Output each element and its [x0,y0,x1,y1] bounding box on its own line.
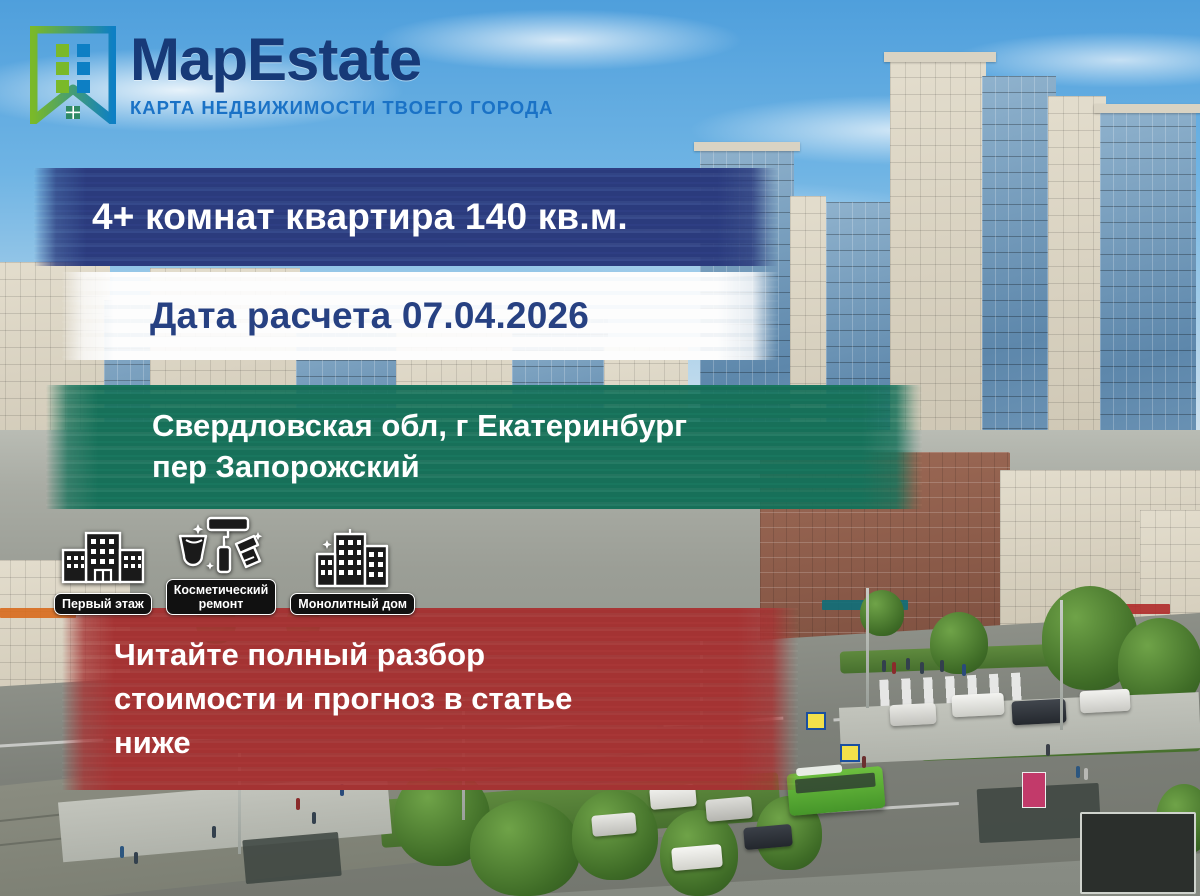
banner-canvas: MapEstate КАРТА НЕДВИЖИМОСТИ ТВОЕГО ГОРО… [0,0,1200,896]
brand-logo[interactable]: MapEstate КАРТА НЕДВИЖИМОСТИ ТВОЕГО ГОРО… [30,26,554,124]
brand-name: MapEstate [130,30,554,90]
cta-line-2: стоимости и прогноз в статье [114,677,572,721]
address-text: Свердловская обл, г Екатеринбург пер Зап… [46,406,687,488]
rooms-banner: 4+ комнат квартира 140 кв.м. [34,168,778,266]
feature-label: Первый этаж [54,593,152,615]
brand-tagline: КАРТА НЕДВИЖИМОСТИ ТВОЕГО ГОРОДА [130,99,554,118]
rooms-text: 4+ комнат квартира 140 кв.м. [34,196,628,238]
address-line-2: пер Запорожский [152,447,687,488]
cta-text: Читайте полный разбор стоимости и прогно… [62,633,572,765]
cta-line-1: Читайте полный разбор [114,633,572,677]
billboard [1080,812,1196,894]
cta-banner[interactable]: Читайте полный разбор стоимости и прогно… [62,608,798,790]
feature-label: Монолитный дом [290,593,415,615]
paint-roller-brush-icon [174,514,268,576]
bus [786,766,885,816]
address-line-1: Свердловская обл, г Екатеринбург [152,406,687,447]
bookmark-building-logo-icon [30,26,116,124]
feature-first-floor[interactable]: Первый этаж [54,528,152,615]
calculation-date-banner: Дата расчета 07.04.2026 [62,272,778,360]
tower-building-icon [305,528,401,590]
building-floor-icon [57,528,149,590]
feature-label: Косметический ремонт [166,579,277,615]
feature-monolithic-house[interactable]: Монолитный дом [290,528,415,615]
calculation-date-text: Дата расчета 07.04.2026 [62,295,589,337]
cta-line-3: ниже [114,721,572,765]
address-banner: Свердловская обл, г Екатеринбург пер Зап… [46,385,922,509]
feature-badges: Первый этаж [54,514,415,615]
feature-cosmetic-renovation[interactable]: Косметический ремонт [166,514,277,615]
